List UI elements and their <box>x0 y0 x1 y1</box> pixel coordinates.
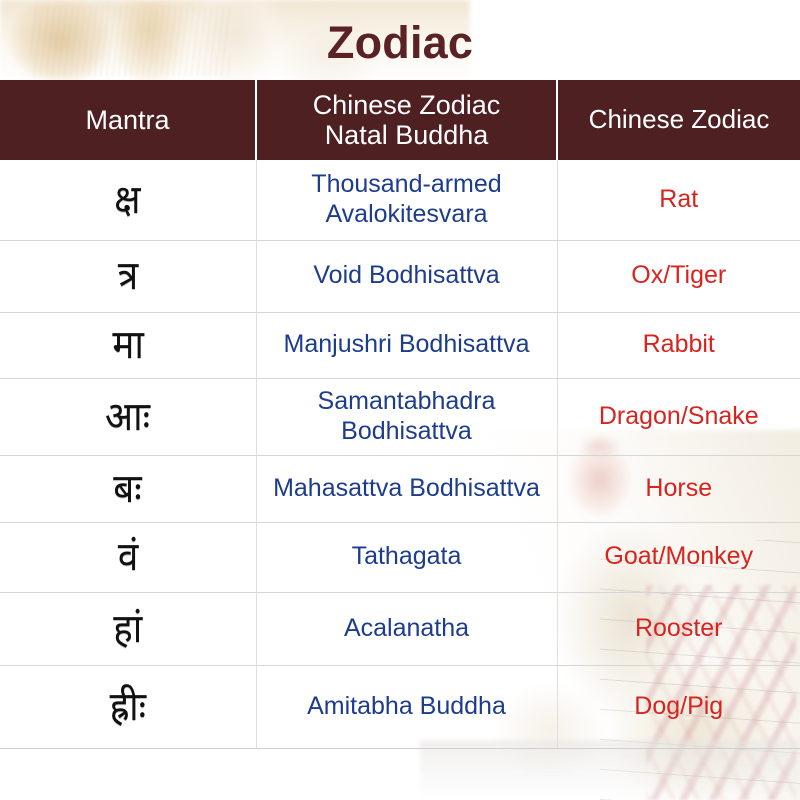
cell-natal-buddha: Samantabhadra Bodhisattva <box>256 378 557 455</box>
cell-mantra: त्र <box>0 240 256 312</box>
cell-chinese-zodiac: Horse <box>557 455 800 522</box>
table-row: त्रVoid BodhisattvaOx/Tiger <box>0 240 800 312</box>
cell-natal-buddha: Amitabha Buddha <box>256 665 557 748</box>
cell-mantra: हां <box>0 592 256 665</box>
column-header-chinese-zodiac: Chinese Zodiac <box>557 80 800 160</box>
cell-natal-buddha: Manjushri Bodhisattva <box>256 312 557 378</box>
table-row: वंTathagataGoat/Monkey <box>0 522 800 592</box>
table-row: माManjushri BodhisattvaRabbit <box>0 312 800 378</box>
cell-natal-buddha: Void Bodhisattva <box>256 240 557 312</box>
cell-mantra: मा <box>0 312 256 378</box>
cell-mantra: क्ष <box>0 160 256 240</box>
cell-chinese-zodiac: Ox/Tiger <box>557 240 800 312</box>
siddham-seed-syllable-tram: त्र <box>118 256 138 296</box>
cell-mantra: वं <box>0 522 256 592</box>
table-body: क्षThousand-armed AvalokitesvaraRatत्रVo… <box>0 160 800 748</box>
siddham-seed-syllable-vam: वं <box>118 537 138 577</box>
cell-mantra: आः <box>0 378 256 455</box>
cell-chinese-zodiac: Goat/Monkey <box>557 522 800 592</box>
table-row: ह्रीःAmitabha BuddhaDog/Pig <box>0 665 800 748</box>
zodiac-chart-page: Zodiac Mantra Chinese Zodiac Natal Buddh… <box>0 0 800 800</box>
column-header-natal-buddha-line1: Chinese Zodiac <box>263 90 550 121</box>
column-header-natal-buddha: Chinese Zodiac Natal Buddha <box>256 80 557 160</box>
background-bottom-wash <box>420 740 800 800</box>
table-header-row: Mantra Chinese Zodiac Natal Buddha Chine… <box>0 80 800 160</box>
cell-natal-buddha: Acalanatha <box>256 592 557 665</box>
siddham-seed-syllable-bah: बः <box>114 469 142 509</box>
table-row: बःMahasattva BodhisattvaHorse <box>0 455 800 522</box>
siddham-seed-syllable-man: मा <box>112 325 144 365</box>
cell-chinese-zodiac: Dog/Pig <box>557 665 800 748</box>
siddham-seed-syllable-hrih: ह्रीः <box>109 687 146 727</box>
siddham-seed-syllable-hrih: क्ष <box>115 180 141 220</box>
siddham-seed-syllable-haam: हां <box>113 609 142 649</box>
title-bar: Zodiac <box>0 0 800 80</box>
table-header: Mantra Chinese Zodiac Natal Buddha Chine… <box>0 80 800 160</box>
table-row: आःSamantabhadra BodhisattvaDragon/Snake <box>0 378 800 455</box>
cell-mantra: बः <box>0 455 256 522</box>
cell-chinese-zodiac: Rooster <box>557 592 800 665</box>
cell-chinese-zodiac: Rat <box>557 160 800 240</box>
siddham-seed-syllable-ah: आः <box>105 397 150 437</box>
column-header-mantra: Mantra <box>0 80 256 160</box>
cell-natal-buddha: Thousand-armed Avalokitesvara <box>256 160 557 240</box>
page-title: Zodiac <box>327 20 473 65</box>
column-header-natal-buddha-line2: Natal Buddha <box>263 120 550 151</box>
cell-chinese-zodiac: Dragon/Snake <box>557 378 800 455</box>
cell-chinese-zodiac: Rabbit <box>557 312 800 378</box>
cell-natal-buddha: Tathagata <box>256 522 557 592</box>
table-row: क्षThousand-armed AvalokitesvaraRat <box>0 160 800 240</box>
cell-mantra: ह्रीः <box>0 665 256 748</box>
table-row: हांAcalanathaRooster <box>0 592 800 665</box>
cell-natal-buddha: Mahasattva Bodhisattva <box>256 455 557 522</box>
zodiac-table: Mantra Chinese Zodiac Natal Buddha Chine… <box>0 80 800 749</box>
